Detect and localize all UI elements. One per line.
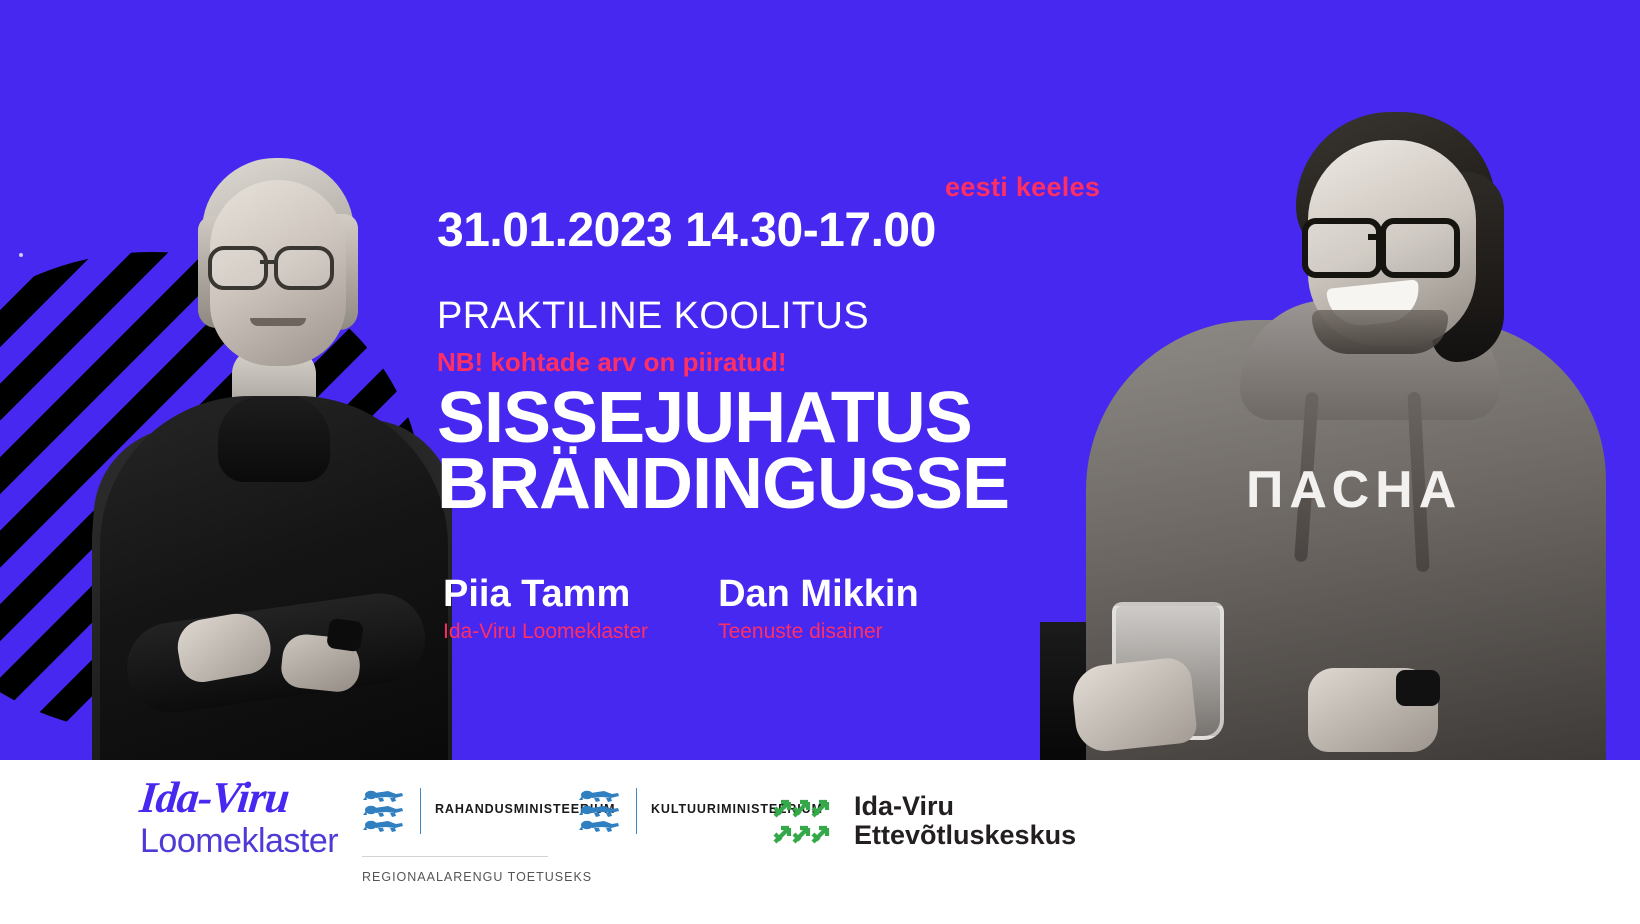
logo-ivl-line-1: Ida-Viru xyxy=(138,776,353,820)
hoodie-graphic-text: ПАСНА xyxy=(1246,460,1576,520)
portrait-glasses-left xyxy=(1302,218,1382,278)
event-banner: ПАСНА eesti keeles 31.01.2023 14.30-17.0… xyxy=(0,0,1640,924)
green-arrows-icon xyxy=(772,795,840,847)
portrait-mouth xyxy=(250,318,306,326)
estonian-lions-crest-icon xyxy=(362,788,406,834)
regional-support-caption: REGIONAALARENGU TOETUSEKS xyxy=(362,870,592,884)
banner-stage: ПАСНА eesti keeles 31.01.2023 14.30-17.0… xyxy=(0,0,1640,760)
logo-divider xyxy=(636,788,637,834)
logo-row: Ida-Viru Loomeklaster xyxy=(0,760,1640,924)
limited-seats-notice: NB! kohtade arv on piiratud! xyxy=(437,347,787,378)
logo-ida-viru-loomeklaster: Ida-Viru Loomeklaster xyxy=(140,776,350,858)
logo-ivek-line-1: Ida-Viru xyxy=(854,792,1076,821)
logo-ivek-text: Ida-Viru Ettevõtluskeskus xyxy=(854,792,1076,849)
logo-ivl-line-2: Loomeklaster xyxy=(140,824,350,858)
logo-ivek-line-2: Ettevõtluskeskus xyxy=(854,821,1076,850)
speck-decoration xyxy=(19,253,23,257)
speaker-name: Piia Tamm xyxy=(443,575,648,615)
portrait-glasses-right xyxy=(274,246,334,290)
speaker-name: Dan Mikkin xyxy=(718,575,919,615)
language-tag: eesti keeles xyxy=(945,172,1100,203)
portrait-glasses-right xyxy=(1380,218,1460,278)
estonian-lions-crest-icon xyxy=(578,788,622,834)
event-headline: SISSEJUHATUS BRÄNDINGUSSE xyxy=(437,385,1009,517)
speaker-role: Ida-Viru Loomeklaster xyxy=(443,617,648,646)
portrait-beard xyxy=(1312,310,1448,354)
portrait-dan-mikkin: ПАСНА xyxy=(1040,62,1640,760)
portrait-piia-tamm xyxy=(92,96,452,760)
footer-caption-rule xyxy=(362,856,548,857)
logo-divider xyxy=(420,788,421,834)
speakers-list: Piia Tamm Ida-Viru Loomeklaster Dan Mikk… xyxy=(443,575,919,646)
portrait-hand-left xyxy=(1070,656,1198,754)
portrait-glasses-left xyxy=(208,246,268,290)
portrait-wristwatch xyxy=(1396,670,1440,706)
event-subtitle: PRAKTILINE KOOLITUS xyxy=(437,295,869,338)
headline-line-2: BRÄNDINGUSSE xyxy=(437,451,1009,517)
portrait-glasses-bridge xyxy=(260,260,278,264)
speaker-item: Dan Mikkin Teenuste disainer xyxy=(718,575,919,646)
speaker-role: Teenuste disainer xyxy=(718,617,919,646)
logo-ida-viru-ettevotluskeskus: Ida-Viru Ettevõtluskeskus xyxy=(772,792,1076,849)
portrait-glasses-bridge xyxy=(1368,234,1386,240)
sponsor-footer: Ida-Viru Loomeklaster xyxy=(0,760,1640,924)
portrait-wristwatch xyxy=(326,618,364,652)
event-datetime: 31.01.2023 14.30-17.00 xyxy=(437,203,936,258)
portrait-turtleneck xyxy=(218,396,330,482)
speaker-item: Piia Tamm Ida-Viru Loomeklaster xyxy=(443,575,648,646)
